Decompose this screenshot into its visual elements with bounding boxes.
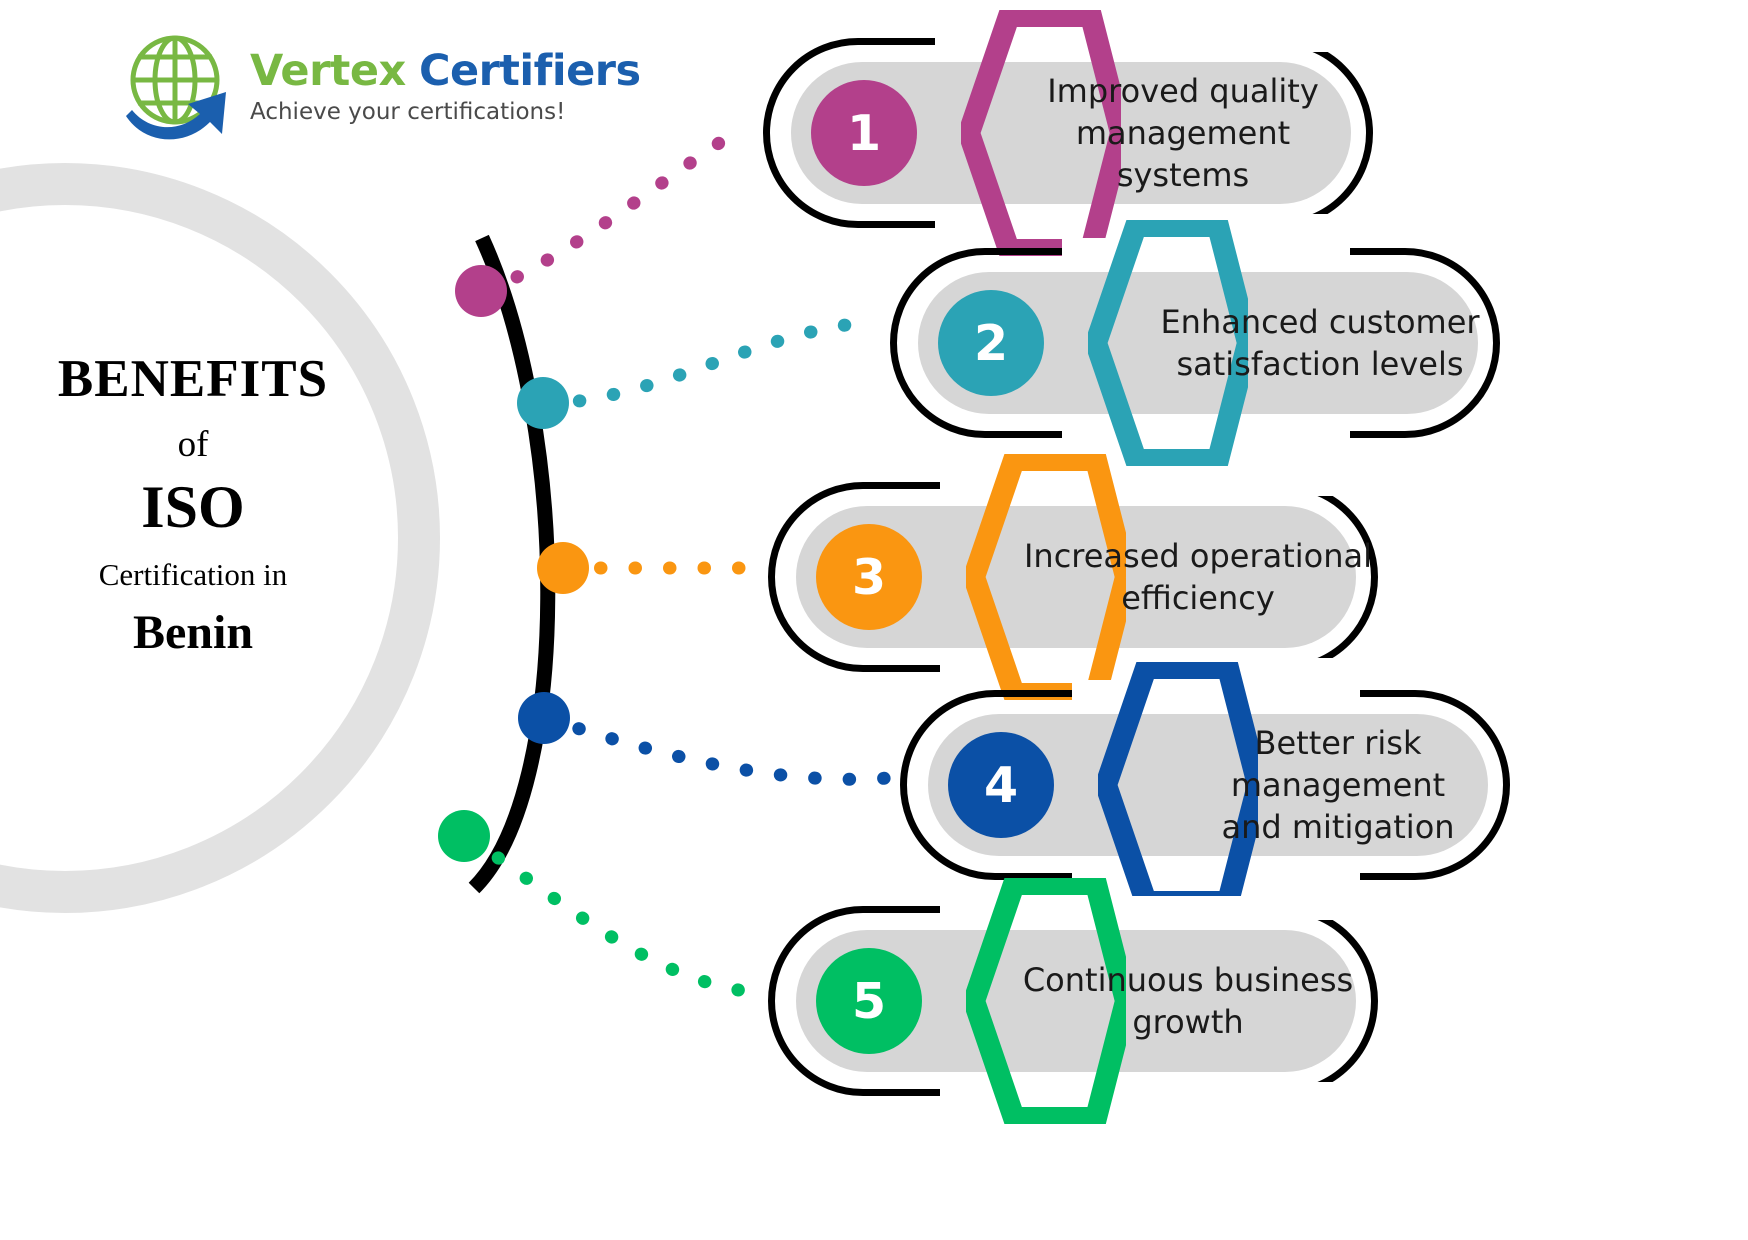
benefit-text-4: Better risk management and mitigation <box>1148 690 1528 880</box>
benefit-row-5[interactable]: 5 Continuous business growth <box>768 906 1378 1096</box>
title-line-benefits: BENEFITS <box>28 352 358 408</box>
brand-name: Vertex Certifiers <box>250 49 641 94</box>
brand-logo: Vertex Certifiers Achieve your certifica… <box>118 30 641 148</box>
benefit-number-1: 1 <box>811 80 917 186</box>
title-line-country: Benin <box>28 608 358 658</box>
benefit-row-1[interactable]: 1 Improved quality management systems <box>763 38 1373 228</box>
benefit-row-2[interactable]: 2 Enhanced customer satisfaction levels <box>890 248 1500 438</box>
benefit-row-3[interactable]: 3 Increased operational efficiency <box>768 482 1378 672</box>
benefit-row-4[interactable]: 4 Better risk management and mitigation <box>900 690 1510 880</box>
benefit-number-3: 3 <box>816 524 922 630</box>
benefit-text-3: Increased operational efficiency <box>1018 482 1378 672</box>
title-line-iso: ISO <box>28 476 358 539</box>
benefit-number-2: 2 <box>938 290 1044 396</box>
arc-node-3 <box>537 542 589 594</box>
arc-node-1 <box>455 265 507 317</box>
title-line-certification: Certification in <box>28 559 358 592</box>
globe-arrow-icon <box>118 30 236 148</box>
benefit-text-1: Improved quality management systems <box>1013 38 1353 228</box>
brand-tagline: Achieve your certifications! <box>250 99 641 125</box>
brand-name-part1: Vertex <box>250 46 406 96</box>
title-line-of: of <box>28 426 358 465</box>
benefit-number-5: 5 <box>816 948 922 1054</box>
arc-node-5 <box>438 810 490 862</box>
benefit-number-4: 4 <box>948 732 1054 838</box>
benefit-text-2: Enhanced customer satisfaction levels <box>1140 248 1500 438</box>
arc-node-4 <box>518 692 570 744</box>
benefit-text-5: Continuous business growth <box>1018 906 1358 1096</box>
brand-name-part2: Certifiers <box>419 46 641 96</box>
page-title: BENEFITS of ISO Certification in Benin <box>28 352 358 658</box>
arc-node-2 <box>517 377 569 429</box>
